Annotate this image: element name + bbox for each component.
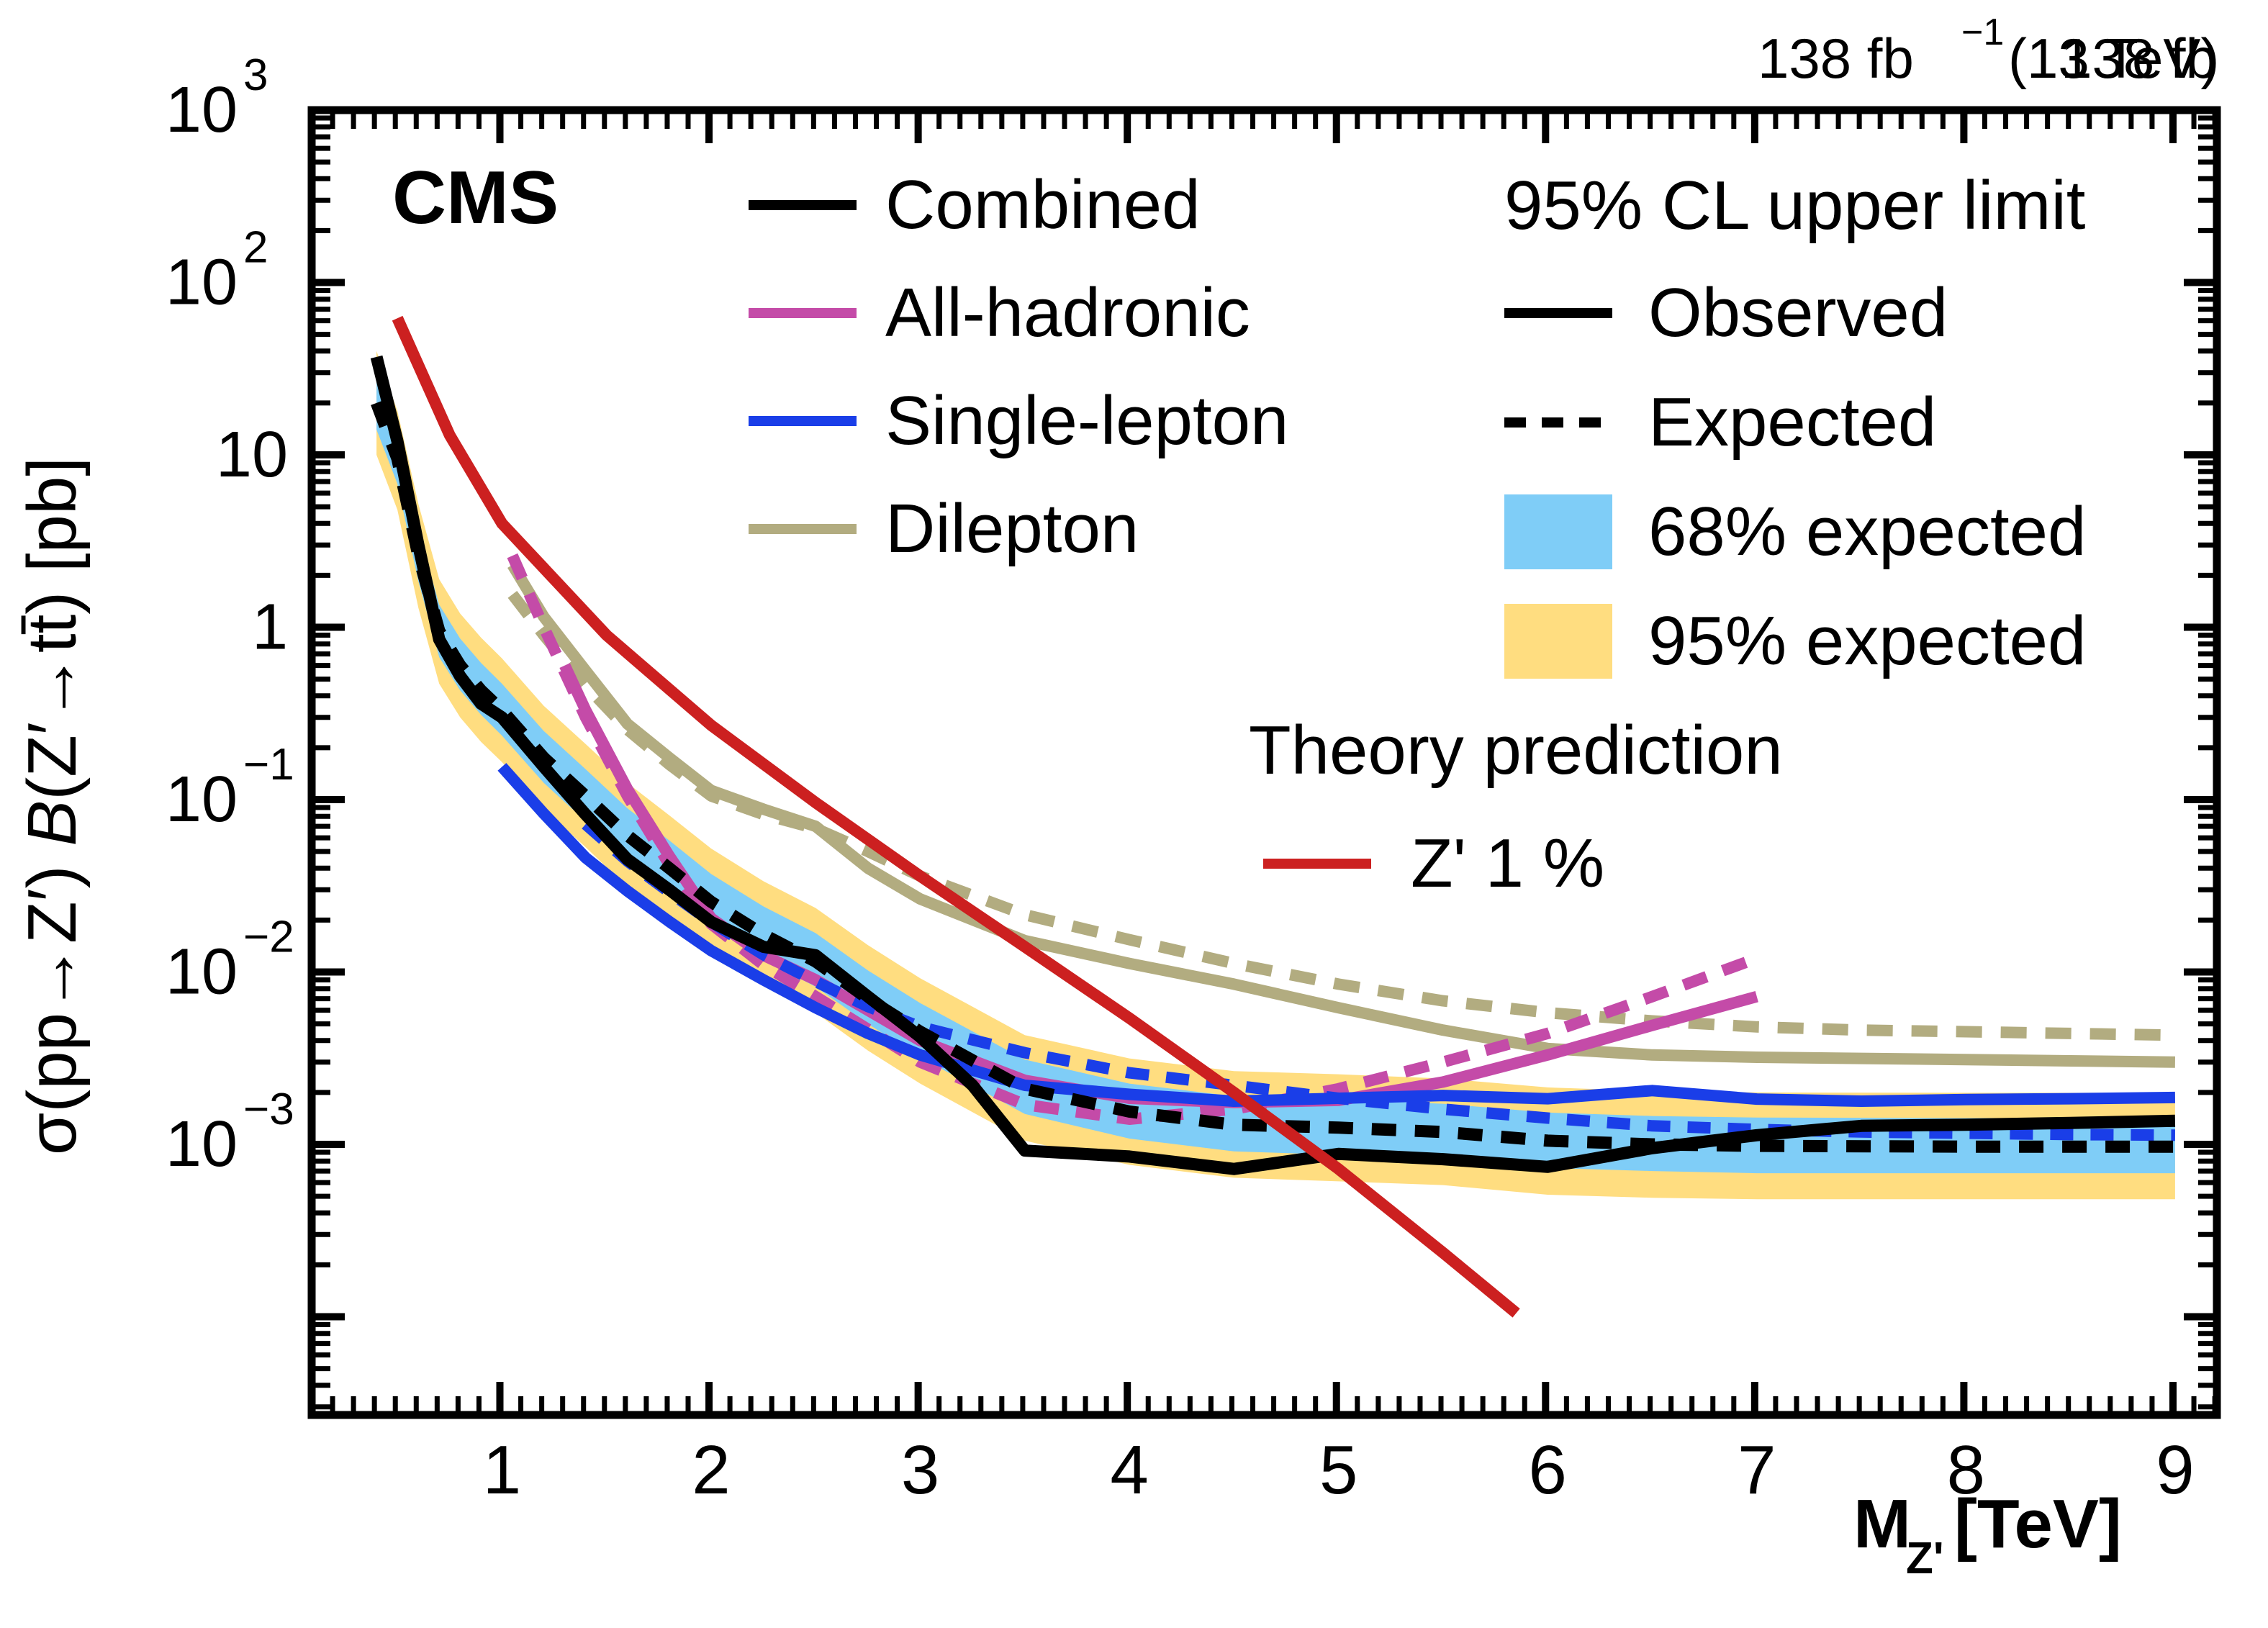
y-axis-title-text: σ(pp→Z′) B(Z′→tt̄) [pb] — [14, 457, 91, 1155]
y-tick-text: 1 — [252, 591, 288, 663]
x-axis-title-unit: [TeV] — [1954, 1485, 2122, 1563]
y-title-br: B — [14, 800, 91, 846]
y-tick-exponent: −3 — [243, 1085, 294, 1134]
legend-theory-title: Theory prediction — [1249, 712, 1783, 789]
lumi-number: 138 fb — [1758, 27, 1914, 90]
lumi-exponent: −1 — [1961, 12, 2004, 53]
y-tick-label: 1 — [252, 591, 288, 663]
x-tick-label: 9 — [2156, 1432, 2194, 1509]
y-tick-exponent: −2 — [243, 912, 294, 962]
chart-page: 138 fb x 138 fb −1 (13 TeV) 10310210110−… — [0, 0, 2268, 1628]
cms-label: CMS — [392, 156, 559, 240]
legend-left-label: Single-lepton — [885, 382, 1288, 459]
legend-left-label: Dilepton — [885, 490, 1139, 567]
energy-label: (13 TeV) — [2008, 27, 2219, 90]
legend-swatch — [1504, 604, 1612, 679]
x-tick-label: 5 — [1319, 1432, 1357, 1509]
legend-left-label: Combined — [885, 166, 1201, 243]
x-tick-label: 6 — [1529, 1432, 1567, 1509]
legend-left-label: All-hadronic — [885, 274, 1250, 351]
y-tick-exponent: 3 — [243, 50, 268, 100]
legend-right-title: 95% CL upper limit — [1504, 167, 2085, 244]
y-axis-title: σ(pp→Z′) B(Z′→tt̄) [pb] — [14, 457, 91, 1155]
x-axis-title-main: M — [1853, 1485, 1911, 1563]
y-title-sigma: σ(pp→Z′) — [14, 846, 91, 1155]
y-title-unit: ) [pb] — [14, 457, 91, 615]
legend-right-label: Observed — [1648, 274, 1948, 351]
y-tick-mantissa: 10 — [166, 936, 238, 1008]
y-tick-exponent: 2 — [243, 222, 268, 272]
legend-swatch — [1504, 494, 1612, 569]
legend-right-label: Expected — [1648, 384, 1936, 461]
y-tick-text: 10 — [216, 419, 288, 491]
x-tick-label: 4 — [1110, 1432, 1148, 1509]
y-title-rest: (Z′→t — [14, 633, 91, 800]
legend-theory-label: Z' 1 % — [1411, 825, 1604, 902]
y-tick-mantissa: 10 — [166, 74, 238, 146]
x-tick-label: 3 — [901, 1432, 939, 1509]
x-tick-label: 7 — [1738, 1432, 1776, 1509]
x-axis-title-sub: Z' — [1906, 1534, 1944, 1583]
limit-plot-svg: 138 fb x 138 fb −1 (13 TeV) 10310210110−… — [0, 0, 2268, 1628]
y-tick-mantissa: 10 — [166, 764, 238, 836]
legend-right-label: 68% expected — [1648, 493, 2086, 570]
y-tick-mantissa: 10 — [166, 246, 238, 318]
plot-background — [0, 0, 2268, 1628]
y-tick-mantissa: 10 — [166, 1108, 238, 1180]
legend-right-label: 95% expected — [1648, 602, 2086, 679]
y-title-tbar: t̄ — [14, 615, 91, 634]
x-tick-label: 1 — [483, 1432, 521, 1509]
y-tick-exponent: −1 — [243, 740, 294, 790]
y-tick-label: 10 — [216, 419, 288, 491]
x-tick-label: 2 — [692, 1432, 730, 1509]
